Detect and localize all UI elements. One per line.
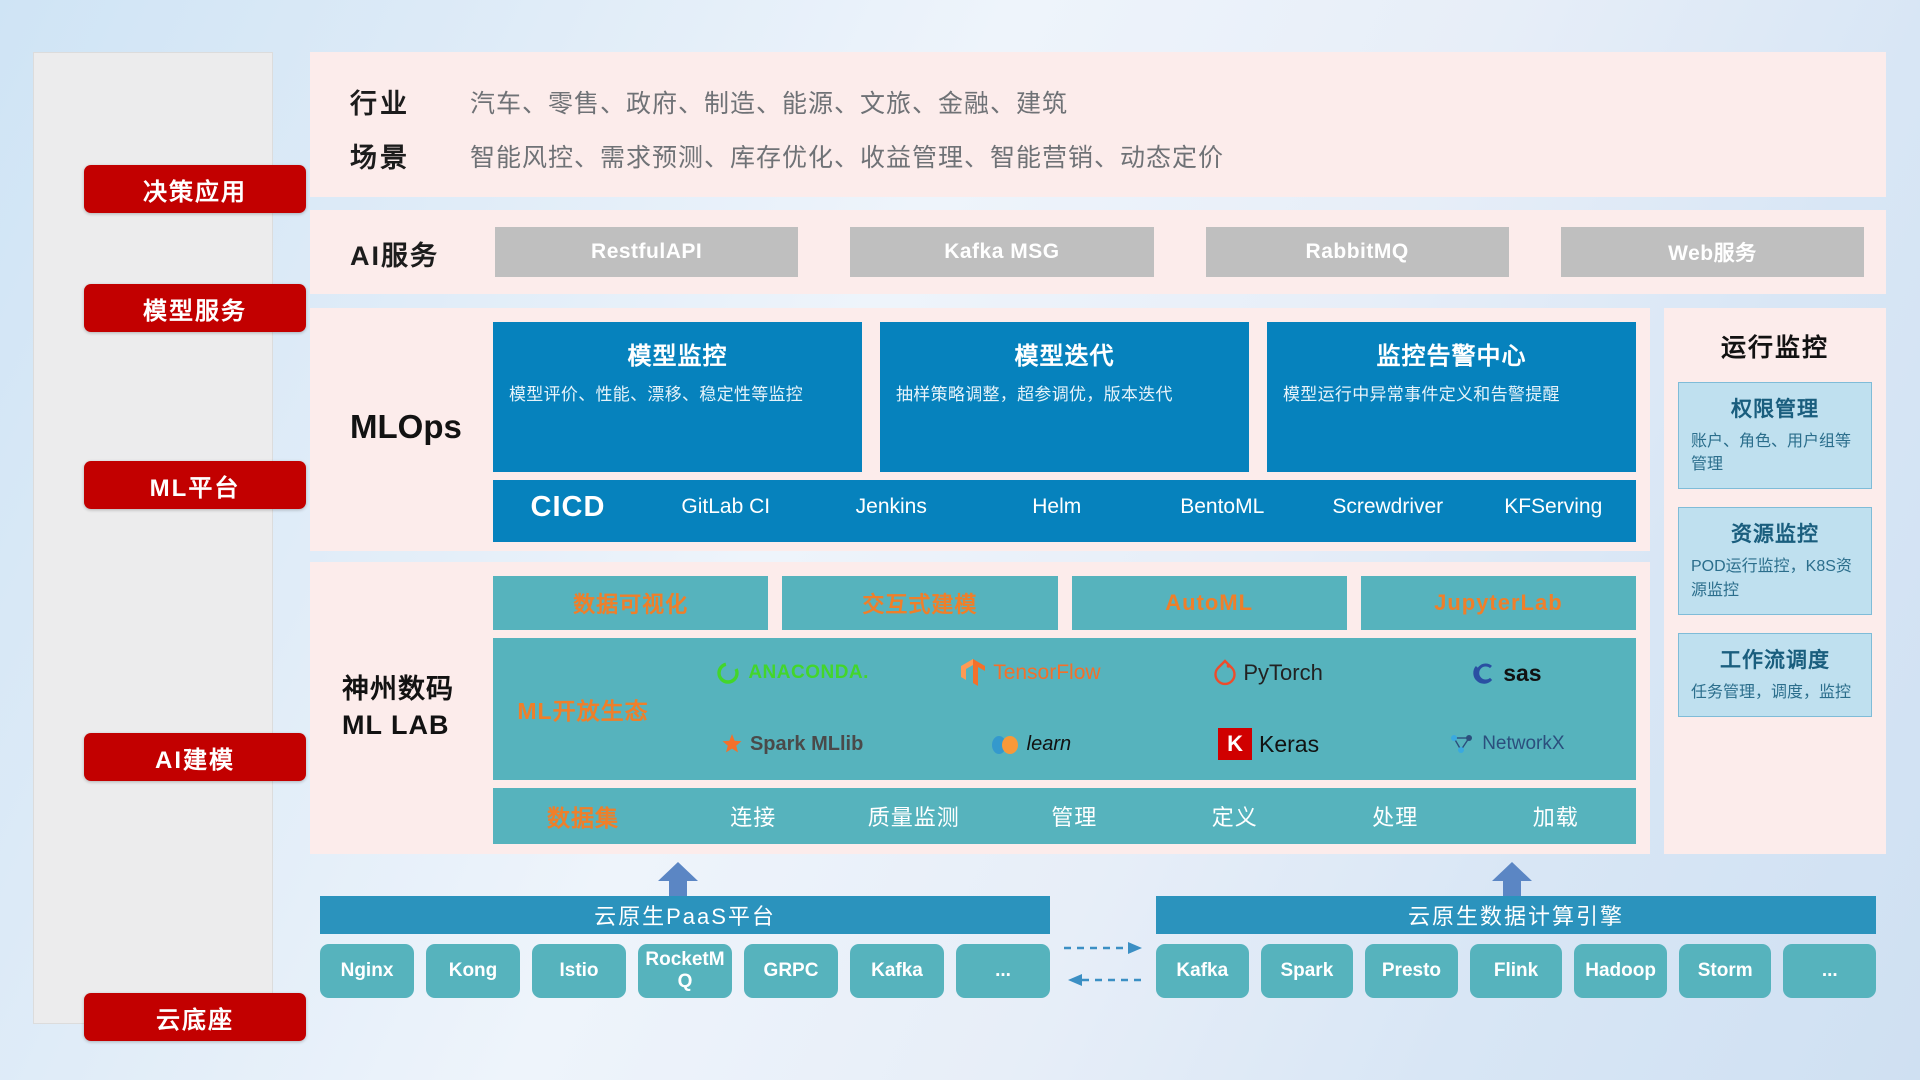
architecture-diagram: 决策应用 模型服务 ML平台 AI建模 云底座 行业 汽车、零售、政府、制造、能… <box>0 0 1920 1080</box>
tier-button-ml-platform[interactable]: ML平台 <box>84 461 306 509</box>
networkx-label: NetworkX <box>1482 733 1564 755</box>
dataset-item-define[interactable]: 定义 <box>1155 800 1316 832</box>
cicd-item-gitlab-ci[interactable]: GitLab CI <box>643 491 809 521</box>
dataset-item-quality[interactable]: 质量监测 <box>834 800 995 832</box>
cicd-item-helm[interactable]: Helm <box>974 491 1140 521</box>
anaconda-logo: ANACONDA. <box>673 638 911 708</box>
ai-service-rabbitmq[interactable]: RabbitMQ <box>1206 227 1509 277</box>
tensorflow-logo: TensorFlow <box>911 638 1149 708</box>
tier-button-ai-modeling[interactable]: AI建模 <box>84 733 306 781</box>
networkx-logo: NetworkX <box>1388 708 1626 780</box>
compute-chip-hadoop[interactable]: Hadoop <box>1574 944 1667 998</box>
ai-modeling-band: 神州数码 ML LAB 数据可视化 交互式建模 AutoML JupyterLa… <box>310 562 1650 854</box>
monitoring-title: 运行监控 <box>1664 308 1886 364</box>
paas-chip-rocketmq[interactable]: RocketMQ <box>638 944 732 998</box>
mlops-card-model-iteration[interactable]: 模型迭代 抽样策略调整，超参调优，版本迭代 <box>880 322 1249 472</box>
spark-mllib-label: Spark MLlib <box>750 733 863 756</box>
ml-open-ecosystem: ML开放生态 ANACONDA. TensorFlow <box>493 638 1636 780</box>
tensorflow-label: TensorFlow <box>993 661 1100 685</box>
industry-values: 汽车、零售、政府、制造、能源、文旅、金融、建筑 <box>470 84 1068 120</box>
tool-data-visualization[interactable]: 数据可视化 <box>493 576 768 630</box>
card-desc: 模型评价、性能、漂移、稳定性等监控 <box>509 383 846 407</box>
ml-lab-label-line1: 神州数码 <box>342 672 492 708</box>
cicd-row: CICD GitLab CI Jenkins Helm BentoML Scre… <box>493 480 1636 542</box>
paas-bar-label: 云原生PaaS平台 <box>320 896 1050 934</box>
paas-chip-list: Nginx Kong Istio RocketMQ GRPC Kafka ... <box>320 944 1050 998</box>
card-title: 资源监控 <box>1691 518 1859 548</box>
mlops-band: MLOps 模型监控 模型评价、性能、漂移、稳定性等监控 模型迭代 抽样策略调整… <box>310 308 1650 551</box>
cicd-item-kfserving[interactable]: KFServing <box>1471 491 1637 521</box>
pytorch-logo: PyTorch <box>1150 638 1388 708</box>
scenario-label: 场景 <box>350 136 470 175</box>
dataset-row: 数据集 连接 质量监测 管理 定义 处理 加载 <box>493 788 1636 844</box>
ecosystem-logo-grid: ANACONDA. TensorFlow PyTorch <box>673 638 1636 780</box>
mlops-label: MLOps <box>350 408 462 446</box>
compute-chip-spark[interactable]: Spark <box>1261 944 1354 998</box>
ecosystem-label: ML开放生态 <box>493 692 673 726</box>
mlops-card-list: 模型监控 模型评价、性能、漂移、稳定性等监控 模型迭代 抽样策略调整，超参调优，… <box>493 322 1636 472</box>
paas-chip-more[interactable]: ... <box>956 944 1050 998</box>
spark-mllib-logo: Spark MLlib <box>673 708 911 780</box>
tier-button-cloud-base[interactable]: 云底座 <box>84 993 306 1041</box>
paas-chip-grpc[interactable]: GRPC <box>744 944 838 998</box>
paas-chip-nginx[interactable]: Nginx <box>320 944 414 998</box>
dataset-item-manage[interactable]: 管理 <box>994 800 1155 832</box>
cicd-item-bentoml[interactable]: BentoML <box>1140 491 1306 521</box>
ml-lab-label: 神州数码 ML LAB <box>342 672 492 743</box>
compute-bar-label: 云原生数据计算引擎 <box>1156 896 1876 934</box>
card-title: 工作流调度 <box>1691 644 1859 674</box>
monitoring-card-permission[interactable]: 权限管理 账户、角色、用户组等管理 <box>1678 382 1872 489</box>
anaconda-label: ANACONDA. <box>748 662 869 684</box>
decision-application-band: 行业 汽车、零售、政府、制造、能源、文旅、金融、建筑 场景 智能风控、需求预测、… <box>310 52 1886 197</box>
card-title: 模型迭代 <box>896 336 1233 371</box>
monitoring-card-resource[interactable]: 资源监控 POD运行监控，K8S资源监控 <box>1678 507 1872 614</box>
ai-service-restfulapi[interactable]: RestfulAPI <box>495 227 798 277</box>
keras-label: Keras <box>1259 731 1319 758</box>
tool-automl[interactable]: AutoML <box>1072 576 1347 630</box>
tier-rail: 决策应用 模型服务 ML平台 AI建模 云底座 <box>33 52 273 1024</box>
card-title: 监控告警中心 <box>1283 336 1620 371</box>
tool-jupyterlab[interactable]: JupyterLab <box>1361 576 1636 630</box>
card-desc: POD运行监控，K8S资源监控 <box>1691 555 1859 601</box>
paas-chip-istio[interactable]: Istio <box>532 944 626 998</box>
model-service-band: AI服务 RestfulAPI Kafka MSG RabbitMQ Web服务 <box>310 210 1886 294</box>
card-desc: 任务管理，调度，监控 <box>1691 681 1859 704</box>
card-title: 模型监控 <box>509 336 846 371</box>
card-title: 权限管理 <box>1691 393 1859 423</box>
paas-chip-kong[interactable]: Kong <box>426 944 520 998</box>
industry-row: 行业 汽车、零售、政府、制造、能源、文旅、金融、建筑 <box>350 82 1068 121</box>
cicd-title: CICD <box>493 491 643 524</box>
pytorch-label: PyTorch <box>1243 660 1322 686</box>
ai-service-kafka-msg[interactable]: Kafka MSG <box>850 227 1153 277</box>
scenario-row: 场景 智能风控、需求预测、库存优化、收益管理、智能营销、动态定价 <box>350 136 1224 175</box>
ai-service-list: RestfulAPI Kafka MSG RabbitMQ Web服务 <box>495 227 1864 277</box>
monitoring-card-workflow[interactable]: 工作流调度 任务管理，调度，监控 <box>1678 633 1872 717</box>
compute-chip-list: Kafka Spark Presto Flink Hadoop Storm ..… <box>1156 944 1876 998</box>
ai-service-label: AI服务 <box>350 234 439 273</box>
compute-chip-storm[interactable]: Storm <box>1679 944 1772 998</box>
tier-button-model-service[interactable]: 模型服务 <box>84 284 306 332</box>
sas-label: sas <box>1503 660 1541 687</box>
compute-chip-more[interactable]: ... <box>1783 944 1876 998</box>
industry-label: 行业 <box>350 82 470 121</box>
scenario-values: 智能风控、需求预测、库存优化、收益管理、智能营销、动态定价 <box>470 138 1224 174</box>
compute-chip-kafka[interactable]: Kafka <box>1156 944 1249 998</box>
card-desc: 账户、角色、用户组等管理 <box>1691 430 1859 476</box>
mlops-card-alert-center[interactable]: 监控告警中心 模型运行中异常事件定义和告警提醒 <box>1267 322 1636 472</box>
ml-lab-label-line2: ML LAB <box>342 708 492 744</box>
tier-button-decision-app[interactable]: 决策应用 <box>84 165 306 213</box>
compute-chip-presto[interactable]: Presto <box>1365 944 1458 998</box>
cloud-base-zone: 云原生PaaS平台 Nginx Kong Istio RocketMQ GRPC… <box>310 862 1886 1024</box>
cloud-native-data-compute-column: 云原生数据计算引擎 Kafka Spark Presto Flink Hadoo… <box>1156 896 1876 1024</box>
paas-chip-kafka[interactable]: Kafka <box>850 944 944 998</box>
dataset-item-connect[interactable]: 连接 <box>673 800 834 832</box>
cicd-item-jenkins[interactable]: Jenkins <box>809 491 975 521</box>
mlops-card-model-monitoring[interactable]: 模型监控 模型评价、性能、漂移、稳定性等监控 <box>493 322 862 472</box>
card-desc: 抽样策略调整，超参调优，版本迭代 <box>896 383 1233 407</box>
cicd-item-screwdriver[interactable]: Screwdriver <box>1305 491 1471 521</box>
tool-interactive-modeling[interactable]: 交互式建模 <box>782 576 1057 630</box>
scikit-learn-label: learn <box>1027 733 1071 756</box>
keras-logo: K Keras <box>1150 708 1388 780</box>
keras-mark: K <box>1218 728 1252 760</box>
runtime-monitoring-panel: 运行监控 权限管理 账户、角色、用户组等管理 资源监控 POD运行监控，K8S资… <box>1664 308 1886 854</box>
compute-chip-flink[interactable]: Flink <box>1470 944 1563 998</box>
card-desc: 模型运行中异常事件定义和告警提醒 <box>1283 383 1620 407</box>
bidirectional-exchange-arrows <box>1062 934 1148 996</box>
dataset-item-process[interactable]: 处理 <box>1315 800 1476 832</box>
cloud-native-paas-column: 云原生PaaS平台 Nginx Kong Istio RocketMQ GRPC… <box>320 896 1050 1024</box>
dataset-label: 数据集 <box>493 799 673 833</box>
dataset-item-load[interactable]: 加载 <box>1476 800 1637 832</box>
ai-service-web[interactable]: Web服务 <box>1561 227 1864 277</box>
ml-lab-tool-list: 数据可视化 交互式建模 AutoML JupyterLab <box>493 576 1636 630</box>
scikit-learn-logo: learn <box>911 708 1149 780</box>
sas-logo: sas <box>1388 638 1626 708</box>
